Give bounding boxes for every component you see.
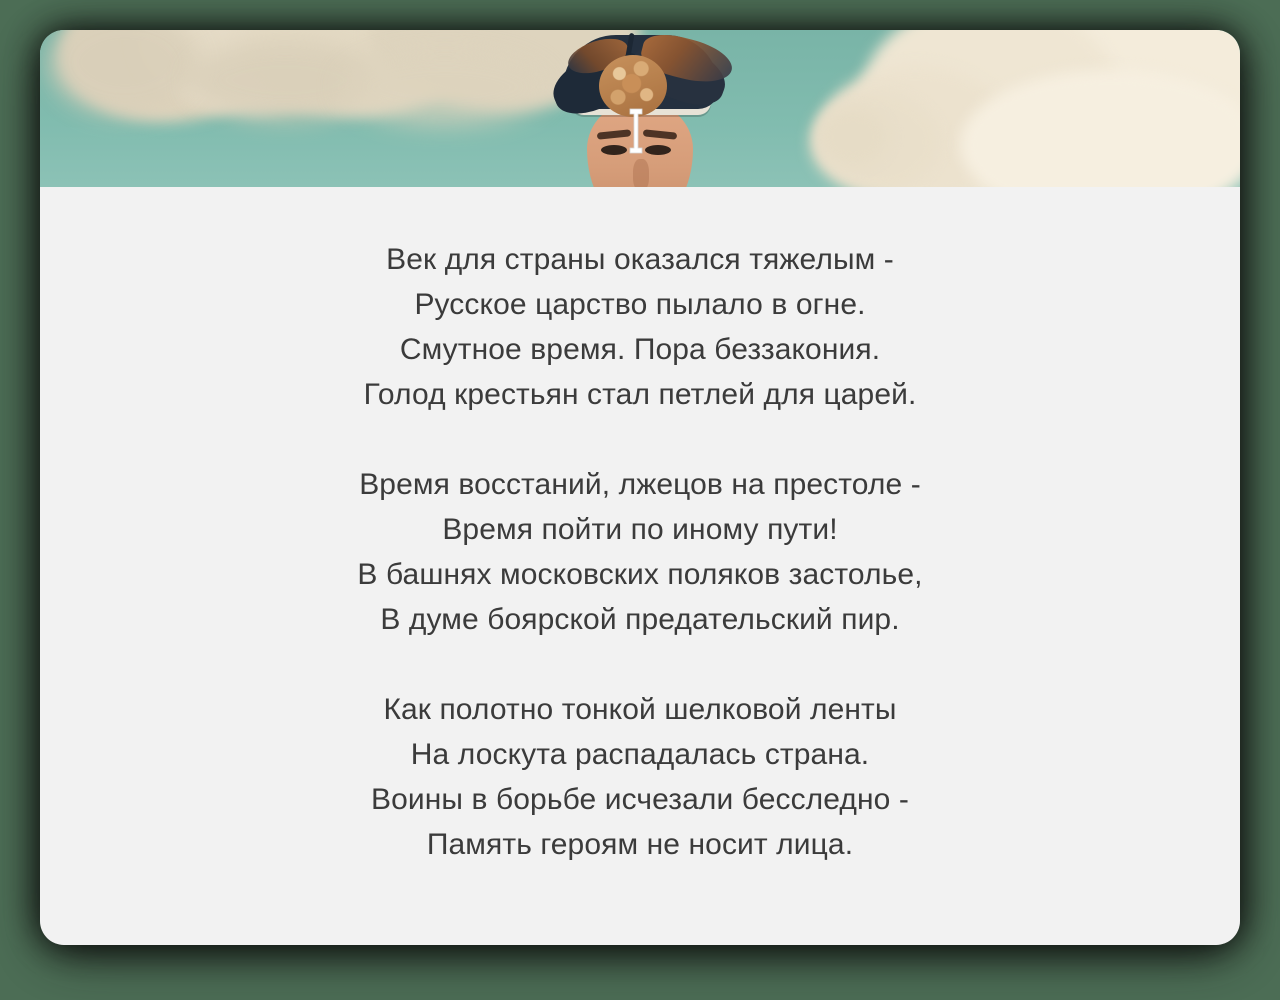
page-stage: Век для страны оказался тяжелым - Русско… bbox=[0, 0, 1280, 1000]
cloud-shape bbox=[818, 108, 888, 166]
poem-line: Век для страны оказался тяжелым - bbox=[40, 237, 1240, 282]
poem-line: Как полотно тонкой шелковой ленты bbox=[40, 687, 1240, 732]
poem-line: Время пойти по иному пути! bbox=[40, 507, 1240, 552]
poem-stanza: Век для страны оказался тяжелым - Русско… bbox=[40, 237, 1240, 417]
hat-plume-ornament bbox=[599, 55, 667, 117]
poem-line: В башнях московских поляков застолье, bbox=[40, 552, 1240, 597]
poem-line: На лоскута распадалась страна. bbox=[40, 732, 1240, 777]
poem-stanza: Как полотно тонкой шелковой ленты На лос… bbox=[40, 687, 1240, 867]
eye-right bbox=[645, 145, 671, 155]
poem-body: Век для страны оказался тяжелым - Русско… bbox=[40, 187, 1240, 867]
poem-line: Смутное время. Пора беззакония. bbox=[40, 327, 1240, 372]
poem-line: Воины в борьбе исчезали бесследно - bbox=[40, 777, 1240, 822]
poem-header-illustration bbox=[40, 30, 1240, 187]
poem-line: Голод крестьян стал петлей для царей. bbox=[40, 372, 1240, 417]
poem-line: Память героям не носит лица. bbox=[40, 822, 1240, 867]
poem-line: Русское царство пылало в огне. bbox=[40, 282, 1240, 327]
poem-line: В думе боярской предательский пир. bbox=[40, 597, 1240, 642]
nose-shape bbox=[633, 159, 649, 187]
poem-line: Время восстаний, лжецов на престоле - bbox=[40, 462, 1240, 507]
poem-card: Век для страны оказался тяжелым - Русско… bbox=[40, 30, 1240, 945]
poem-stanza: Время восстаний, лжецов на престоле - Вр… bbox=[40, 462, 1240, 642]
cloud-shape bbox=[340, 48, 550, 126]
eye-left bbox=[601, 145, 627, 155]
portrait-figure bbox=[545, 30, 735, 187]
